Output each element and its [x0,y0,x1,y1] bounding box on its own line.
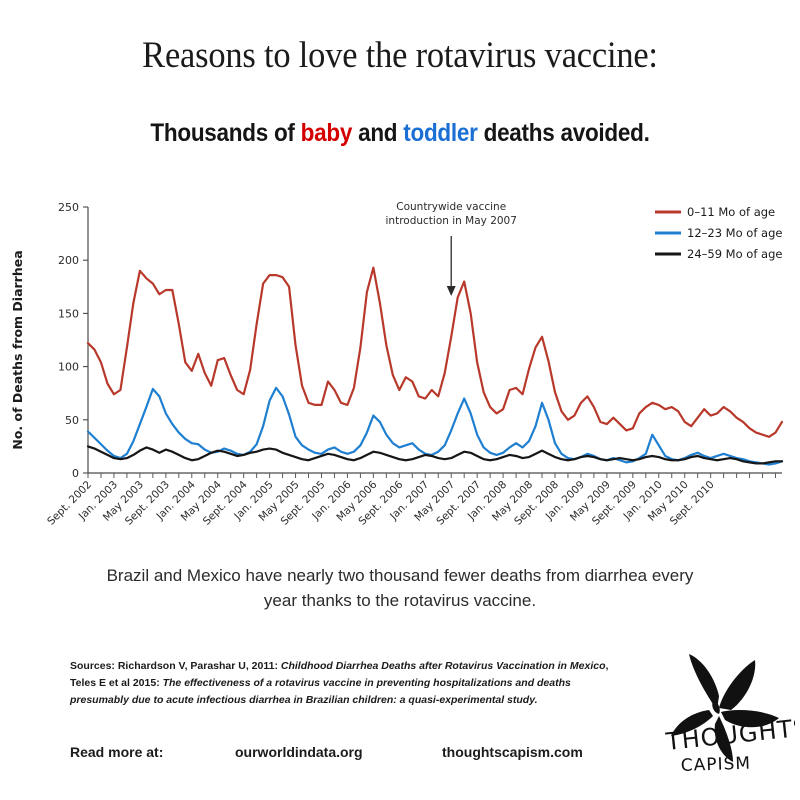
thoughtscapism-logo: THOUGHTS CAPISM [645,638,795,788]
annotation-arrow-head [447,286,456,296]
infographic-poster: Reasons to love the rotavirus vaccine: T… [0,0,800,800]
annotation-line-1: Countrywide vaccine [396,201,506,213]
chart-series-group [88,268,782,465]
subtitle-part-1: Thousands of [150,119,300,147]
y-tick-label-2: 100 [58,361,79,374]
y-axis-ticks: 050100150200250 [58,201,88,480]
subtitle-highlight-toddler: toddler [403,119,477,147]
sources-note: Sources: Richardson V, Parashar U, 2011:… [70,658,615,709]
line-chart: 050100150200250 Sept. 2002Jan. 2003May 2… [0,190,800,550]
link-thoughtscapism[interactable]: thoughtscapism.com [442,744,583,760]
chart-axes [88,207,782,473]
chart-legend: 0–11 Mo of age12–23 Mo of age24–59 Mo of… [655,205,782,261]
source-title-1: Childhood Diarrhea Deaths after Rotaviru… [281,660,606,672]
y-tick-label-0: 0 [72,467,79,480]
legend-label-1: 12–23 Mo of age [687,226,782,240]
series-line-1 [88,388,782,465]
subtitle-part-3: deaths avoided. [478,119,650,147]
y-tick-label-3: 150 [58,307,79,320]
series-line-0 [88,268,782,437]
chart-caption: Brazil and Mexico have nearly two thousa… [95,563,705,613]
series-line-2 [88,446,782,463]
x-axis-ticks: Sept. 2002Jan. 2003May 2003Sept. 2003Jan… [45,473,775,528]
legend-label-2: 24–59 Mo of age [687,247,782,261]
chart-svg: 050100150200250 Sept. 2002Jan. 2003May 2… [0,190,800,550]
y-tick-label-4: 200 [58,254,79,267]
page-title: Reasons to love the rotavirus vaccine: [28,34,772,77]
subtitle-highlight-baby: baby [301,119,352,147]
y-tick-label-1: 50 [65,414,79,427]
chart-annotation: Countrywide vaccineintroduction in May 2… [386,201,517,296]
subtitle-part-2: and [352,119,403,147]
legend-label-0: 0–11 Mo of age [687,205,775,219]
page-subtitle: Thousands of baby and toddler deaths avo… [40,119,760,148]
sources-lead: Sources: Richardson V, Parashar U, 2011: [70,660,281,672]
read-more-label: Read more at: [70,744,163,760]
annotation-line-2: introduction in May 2007 [386,215,517,227]
axis-lines [88,207,782,473]
link-ourworldindata[interactable]: ourworldindata.org [235,744,363,760]
logo-text-capism: CAPISM [680,754,751,776]
y-tick-label-5: 250 [58,201,79,214]
y-axis-title: No. of Deaths from Diarrhea [10,250,25,449]
